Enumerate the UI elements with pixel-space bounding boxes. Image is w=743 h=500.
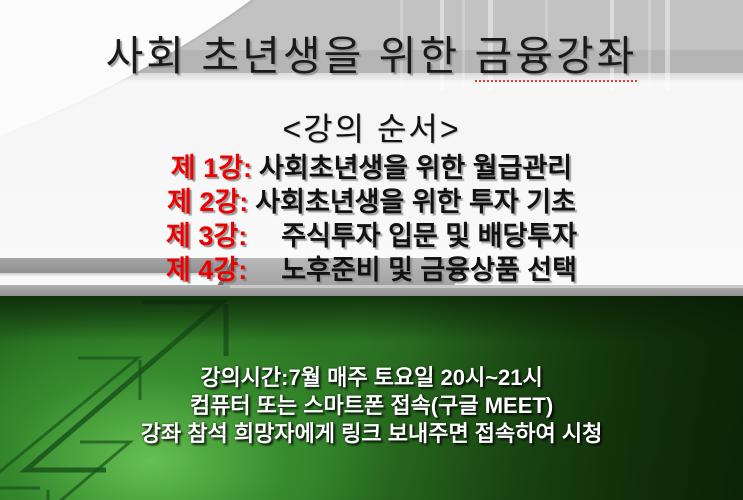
slide-subtitle: <강의 순서> <box>0 104 743 150</box>
lecture-row: 제 1강: 사회초년생을 위한 월급관리 <box>0 146 743 180</box>
footer-line-schedule: 강의시간:7월 매주 토요일 20시~21시 <box>0 364 743 392</box>
lecture-row: 제 4강: 노후준비 및 금융상품 선택 <box>0 248 743 282</box>
lecture-row: 제 3강: 주식투자 입문 및 배당투자 <box>0 214 743 248</box>
lecture-row: 제 2강: 사회초년생을 위한 투자 기초 <box>0 180 743 214</box>
lecture-title: 노후준비 및 금융상품 선택 <box>281 248 577 287</box>
footer-info: 강의시간:7월 매주 토요일 20시~21시 컴퓨터 또는 스마트폰 접속(구글… <box>0 364 743 448</box>
slide-title-plain: 사회 초년생을 위한 <box>106 33 475 79</box>
slide-title-flagged-word: 금융강좌 <box>475 33 638 82</box>
lecture-number: 제 4강: <box>166 248 247 287</box>
slide-title: 사회 초년생을 위한 금융강좌 <box>0 22 743 82</box>
presentation-slide: 사회 초년생을 위한 금융강좌 <강의 순서> 제 1강: 사회초년생을 위한 … <box>0 0 743 500</box>
footer-line-platform: 컴퓨터 또는 스마트폰 접속(구글 MEET) <box>0 392 743 420</box>
lecture-list: 제 1강: 사회초년생을 위한 월급관리 제 2강: 사회초년생을 위한 투자 … <box>0 146 743 282</box>
footer-line-link: 강좌 참석 희망자에게 링크 보내주면 접속하여 시청 <box>0 420 743 448</box>
